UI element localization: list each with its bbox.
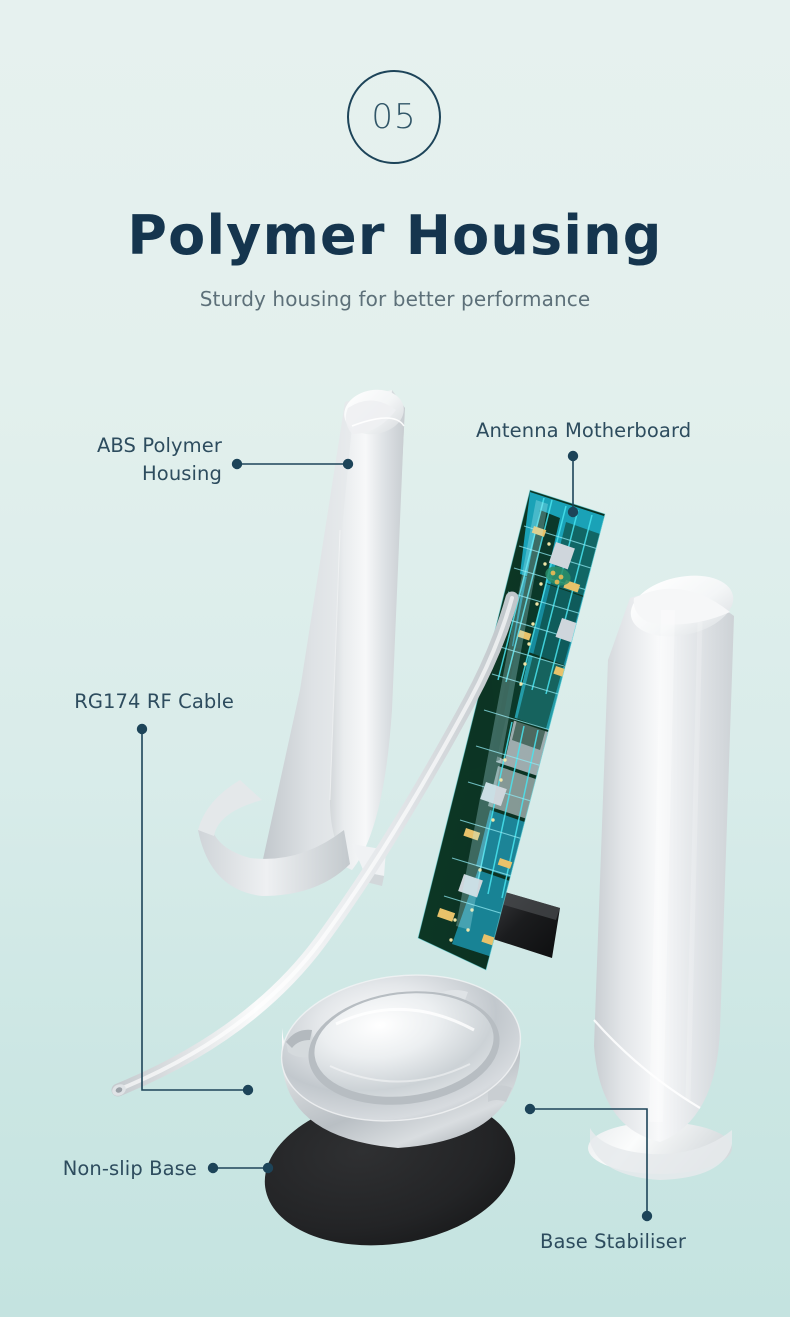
infographic-page: 05 Polymer Housing Sturdy housing for be… [0, 0, 790, 1317]
step-number-badge: 05 [347, 70, 441, 164]
page-title: Polymer Housing [0, 207, 790, 265]
left-housing-shell [198, 385, 407, 896]
callout-label-base-stabiliser: Base Stabiliser [540, 1228, 756, 1256]
page-subtitle: Sturdy housing for better performance [0, 287, 790, 311]
callout-label-abs-polymer-housing: ABS Polymer Housing [22, 432, 222, 487]
callout-label-rg174-rf-cable: RG174 RF Cable [22, 688, 234, 716]
pcb-motherboard [418, 490, 605, 970]
callout-label-non-slip-base: Non-slip Base [22, 1155, 197, 1183]
callout-label-antenna-motherboard: Antenna Motherboard [476, 417, 736, 445]
step-number: 05 [371, 100, 416, 134]
right-housing-shell [588, 567, 739, 1180]
